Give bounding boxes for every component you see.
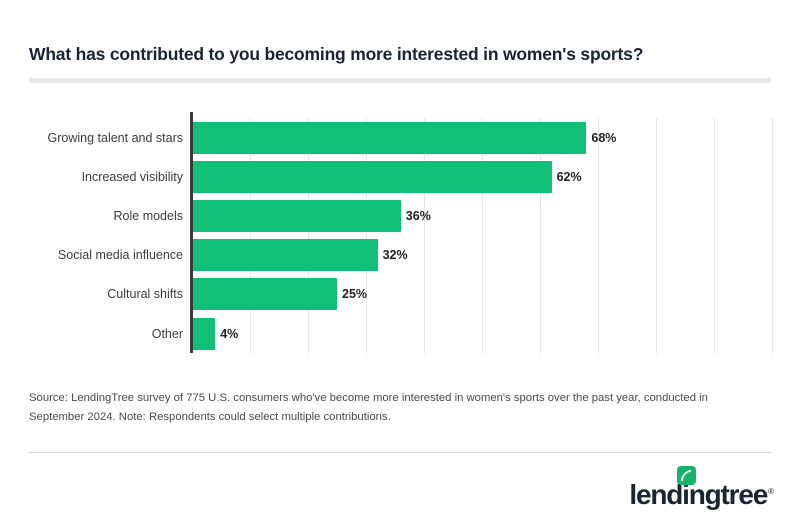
bar bbox=[192, 318, 215, 350]
bar bbox=[192, 200, 401, 232]
category-label: Cultural shifts bbox=[0, 275, 183, 314]
category-label: Other bbox=[0, 314, 183, 353]
lendingtree-logo: lendingtree ® bbox=[629, 466, 774, 510]
bar-row: 36% bbox=[192, 196, 772, 235]
bar bbox=[192, 278, 337, 310]
bar bbox=[192, 122, 586, 154]
title-divider bbox=[29, 78, 771, 83]
bar-rows: 68%62%36%32%25%4% bbox=[192, 118, 772, 353]
logo-trademark: ® bbox=[768, 487, 774, 496]
bar-value-label: 32% bbox=[383, 248, 408, 262]
bar-chart: Growing talent and starsIncreased visibi… bbox=[0, 112, 800, 357]
logo-wordmark: lendingtree bbox=[629, 480, 767, 510]
gridline bbox=[772, 118, 773, 353]
bar-row: 25% bbox=[192, 275, 772, 314]
infographic-page: What has contributed to you becoming mor… bbox=[0, 0, 800, 528]
bar-value-label: 25% bbox=[342, 287, 367, 301]
category-label: Growing talent and stars bbox=[0, 118, 183, 157]
bar-row: 4% bbox=[192, 314, 772, 353]
category-label: Role models bbox=[0, 196, 183, 235]
category-label: Increased visibility bbox=[0, 157, 183, 196]
bar-value-label: 36% bbox=[406, 209, 431, 223]
value-axis-line bbox=[190, 112, 193, 353]
page-title: What has contributed to you becoming mor… bbox=[29, 43, 759, 65]
bar-row: 62% bbox=[192, 157, 772, 196]
leaf-icon bbox=[677, 466, 696, 485]
bar-value-label: 68% bbox=[591, 131, 616, 145]
bar-value-label: 62% bbox=[557, 170, 582, 184]
bar bbox=[192, 161, 552, 193]
footer-divider bbox=[29, 452, 771, 453]
bar-row: 68% bbox=[192, 118, 772, 157]
plot-area: 68%62%36%32%25%4% bbox=[192, 118, 772, 353]
bar bbox=[192, 239, 378, 271]
category-label: Social media influence bbox=[0, 236, 183, 275]
category-axis-labels: Growing talent and starsIncreased visibi… bbox=[0, 118, 183, 353]
bar-value-label: 4% bbox=[220, 327, 238, 341]
source-note: Source: LendingTree survey of 775 U.S. c… bbox=[29, 389, 751, 427]
bar-row: 32% bbox=[192, 236, 772, 275]
